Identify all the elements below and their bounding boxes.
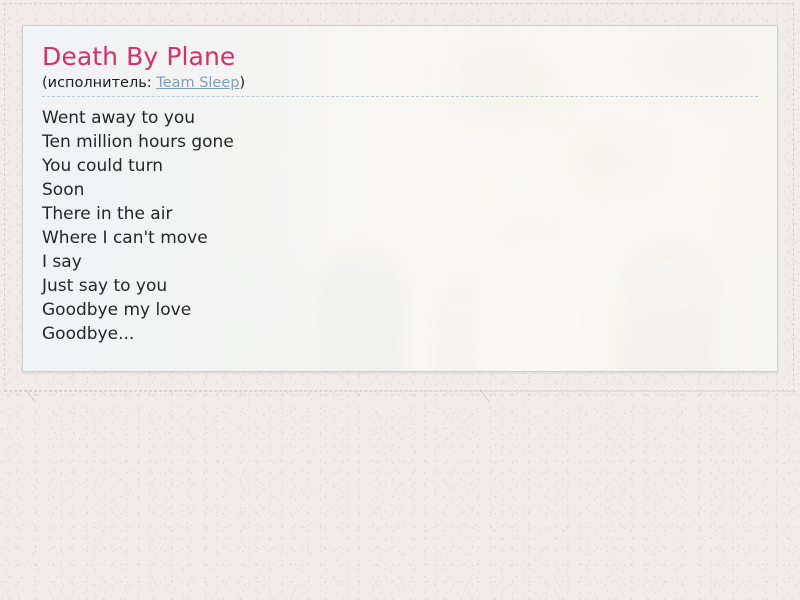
artist-line: (исполнитель: Team Sleep) — [42, 74, 758, 92]
lyric-line: There in the air — [42, 202, 758, 226]
song-title: Death By Plane — [42, 43, 758, 71]
artist-link[interactable]: Team Sleep — [156, 75, 239, 91]
artist-prefix-label: (исполнитель: — [42, 75, 156, 91]
lyric-line: Just say to you — [42, 274, 758, 298]
lyric-line: Soon — [42, 178, 758, 202]
header-divider — [42, 96, 758, 97]
lyric-line: Goodbye my love — [42, 298, 758, 322]
card-content: Death By Plane (исполнитель: Team Sleep)… — [23, 26, 777, 346]
lyrics-list: Went away to you Ten million hours gone … — [42, 106, 758, 346]
lyric-line: Where I can't move — [42, 226, 758, 250]
artist-suffix-label: ) — [239, 75, 245, 91]
lyric-line: Went away to you — [42, 106, 758, 130]
lyric-line: Ten million hours gone — [42, 130, 758, 154]
lyric-line: Goodbye... — [42, 322, 758, 346]
page-dashed-rule — [4, 391, 796, 392]
lyric-line: You could turn — [42, 154, 758, 178]
lyric-line: I say — [42, 250, 758, 274]
lyric-card: Death By Plane (исполнитель: Team Sleep)… — [22, 25, 778, 372]
